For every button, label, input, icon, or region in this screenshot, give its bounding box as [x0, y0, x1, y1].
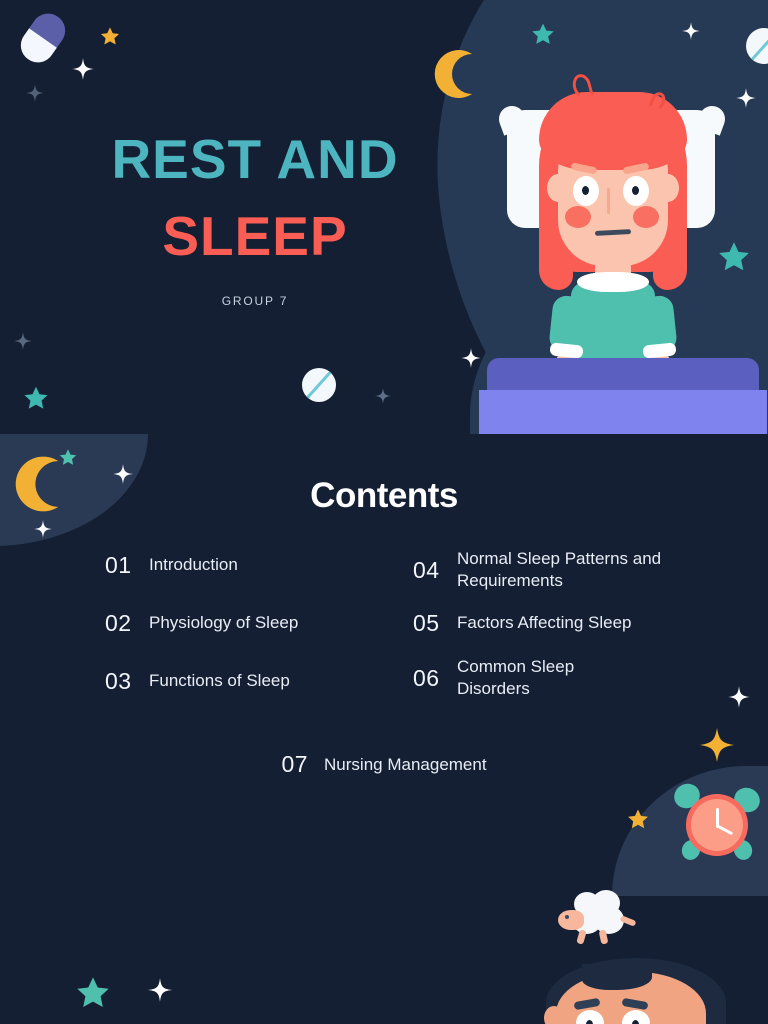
girl-cheek-left [565, 206, 591, 228]
bottom-character-pupil-right [632, 1020, 639, 1024]
contents-section: Contents 01 Introduction 02 Physiology o… [0, 434, 768, 1024]
sheep-illustration [558, 890, 636, 942]
toc-item-05[interactable]: 05 Factors Affecting Sleep [413, 604, 753, 642]
toc-left-column: 01 Introduction 02 Physiology of Sleep 0… [105, 546, 405, 720]
sparkle-icon [682, 22, 700, 45]
capsule-pill-icon [14, 7, 72, 69]
toc-number: 01 [105, 552, 149, 579]
blanket-fold [487, 358, 759, 392]
sparkle-icon [375, 388, 391, 409]
hero-illustration-band: REST AND SLEEP GROUP 7 [0, 0, 768, 434]
girl-sleeve-cuff-right [642, 342, 676, 358]
toc-label: Physiology of Sleep [149, 612, 298, 634]
girl-pupil-left [582, 186, 589, 195]
sparkle-icon [34, 520, 52, 543]
toc-number: 06 [413, 665, 457, 692]
teal-star-icon [74, 975, 112, 1013]
toc-label: Factors Affecting Sleep [457, 612, 632, 634]
presentation-slide: REST AND SLEEP GROUP 7 [0, 0, 768, 1024]
toc-item-01[interactable]: 01 Introduction [105, 546, 405, 584]
teal-star-icon [530, 22, 556, 48]
teal-star-icon [22, 385, 50, 413]
sparkle-icon [148, 978, 172, 1007]
toc-right-column: 04 Normal Sleep Patterns and Requirement… [413, 546, 753, 722]
girl-nose [607, 188, 610, 214]
toc-center-row: 07 Nursing Management [0, 751, 768, 778]
sparkle-icon [14, 332, 32, 355]
bottom-character-head [532, 958, 768, 1024]
sheep-head [558, 910, 584, 930]
tablet-score-line [746, 28, 768, 64]
toc-number: 03 [105, 668, 149, 695]
sparkle-icon [728, 686, 750, 713]
subtitle-group: GROUP 7 [0, 294, 510, 308]
tablet-pill-icon-center [302, 368, 336, 402]
gold-star-icon [626, 808, 650, 832]
girl-pupil-right [632, 186, 639, 195]
girl-shirt-collar [577, 272, 649, 292]
toc-item-06[interactable]: 06 Common Sleep Disorders [413, 654, 753, 702]
title-block: REST AND SLEEP GROUP 7 [0, 132, 510, 308]
toc-number: 05 [413, 610, 457, 637]
girl-hair-fringe [539, 92, 687, 170]
toc-number: 07 [281, 751, 308, 778]
tablet-score-line [302, 368, 336, 402]
toc-item-04[interactable]: 04 Normal Sleep Patterns and Requirement… [413, 546, 753, 594]
sheep-eye [565, 915, 569, 919]
contents-heading: Contents [0, 476, 768, 516]
tablet-pill-icon-top-right [746, 28, 768, 64]
alarm-clock-illustration [672, 782, 762, 866]
toc-number: 04 [413, 557, 457, 584]
toc-item-02[interactable]: 02 Physiology of Sleep [105, 604, 405, 642]
toc-label: Common Sleep Disorders [457, 656, 617, 700]
girl-sleeve-cuff-left [549, 342, 583, 358]
toc-label: Introduction [149, 554, 238, 576]
toc-label: Normal Sleep Patterns and Requirements [457, 548, 702, 592]
toc-item-03[interactable]: 03 Functions of Sleep [105, 662, 405, 700]
title-line-one: REST AND [0, 132, 510, 187]
bottom-character-pupil-left [586, 1020, 593, 1024]
gold-sparkle-star-icon [700, 728, 734, 762]
title-line-two: SLEEP [0, 209, 510, 264]
teal-star-icon [58, 448, 78, 468]
toc-label: Nursing Management [324, 754, 487, 776]
sparkle-icon [26, 84, 44, 107]
toc-item-07[interactable]: 07 Nursing Management [281, 751, 486, 778]
toc-label: Functions of Sleep [149, 670, 290, 692]
toc-number: 02 [105, 610, 149, 637]
girl-cheek-right [633, 206, 659, 228]
bottom-character-fringe [582, 964, 652, 990]
blanket [479, 390, 767, 434]
sparkle-icon [72, 58, 94, 85]
gold-star-icon [99, 26, 121, 48]
